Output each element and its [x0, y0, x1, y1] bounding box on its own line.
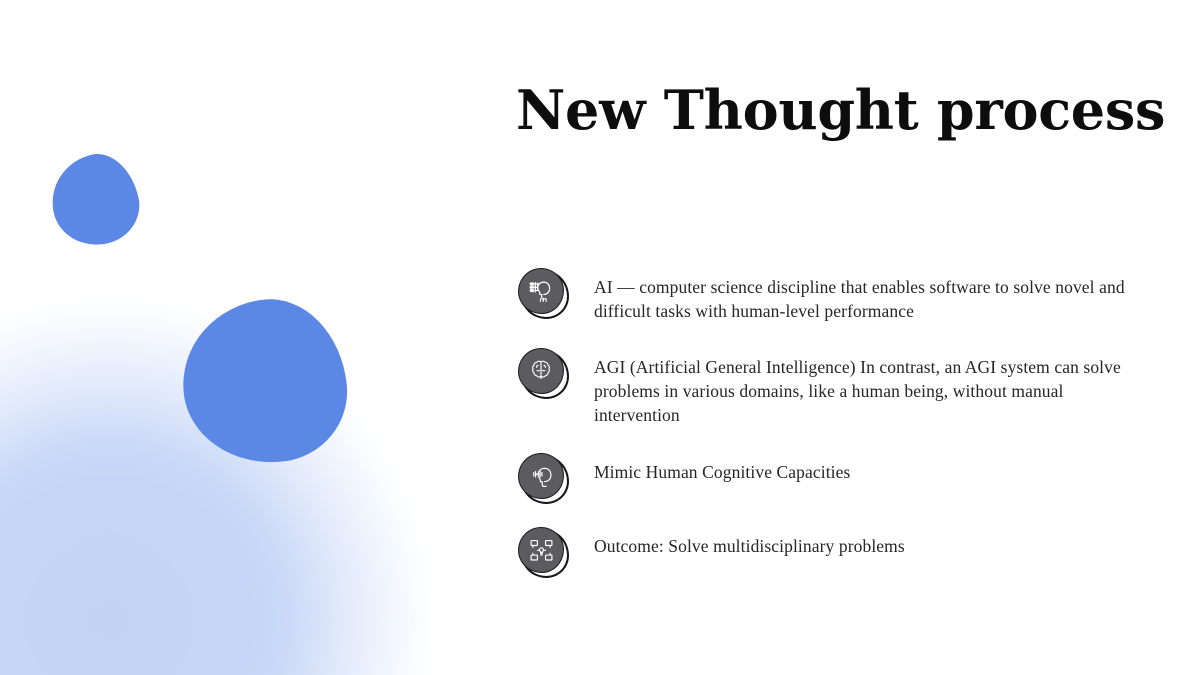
- decorative-blob-large: [175, 292, 354, 471]
- list-item: Outcome: Solve multidisciplinary problem…: [518, 527, 1148, 575]
- brain-icon: [518, 348, 566, 396]
- badge-disc: [518, 348, 564, 394]
- list-item-text: AGI (Artificial General Intelligence) In…: [594, 348, 1148, 427]
- badge-disc: [518, 527, 564, 573]
- decorative-blob-small: [44, 147, 147, 253]
- bullet-list: AI — computer science discipline that en…: [518, 268, 1148, 575]
- head-circuit-icon: [518, 268, 566, 316]
- slide-canvas: New Thought process: [0, 0, 1200, 675]
- network-idea-icon: [518, 527, 566, 575]
- head-dumbbell-icon: [518, 453, 566, 501]
- badge-disc: [518, 268, 564, 314]
- list-item-text: Outcome: Solve multidisciplinary problem…: [594, 527, 1148, 558]
- list-item-text: AI — computer science discipline that en…: [594, 268, 1148, 323]
- list-item: Mimic Human Cognitive Capacities: [518, 453, 1148, 501]
- list-item-text: Mimic Human Cognitive Capacities: [594, 453, 1148, 484]
- list-item: AI — computer science discipline that en…: [518, 268, 1148, 323]
- page-title: New Thought process: [516, 79, 1156, 141]
- badge-disc: [518, 453, 564, 499]
- list-item: AGI (Artificial General Intelligence) In…: [518, 348, 1148, 427]
